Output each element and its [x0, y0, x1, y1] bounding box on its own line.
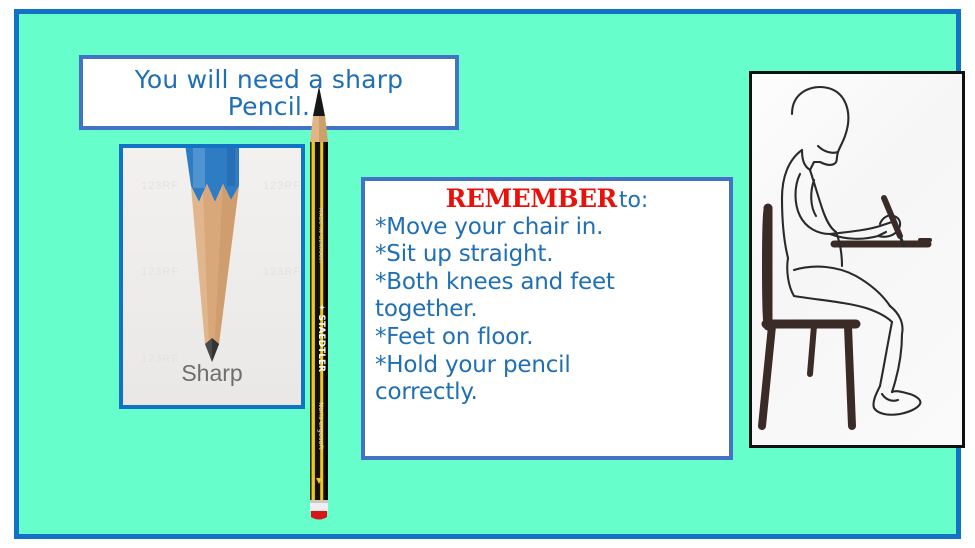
title-text-box: You will need a sharp Pencil.: [79, 55, 459, 130]
pencil-origin-text: MADE IN GERMANY: [317, 208, 323, 264]
posture-image-card: [749, 71, 965, 448]
seated-child-drawing: [752, 74, 962, 445]
slide-border-frame: You will need a sharp Pencil. 123RF 123R…: [14, 9, 961, 539]
staedtler-pencil-graphic: MADE IN GERMANY ✦ STAEDTLER Noris ergoso…: [306, 86, 332, 521]
pencil-model-text: Noris ergosoft: [317, 402, 325, 450]
reminder-item: correctly.: [375, 379, 719, 407]
reminder-item: *Both knees and feet: [375, 269, 719, 297]
sharp-label: Sharp: [123, 360, 301, 387]
sharp-pencil-image-card: 123RF 123RF 123RF 123RF 123RF: [119, 144, 305, 409]
title-line-1: You will need a sharp: [135, 65, 404, 94]
title-line-2: Pencil.: [228, 92, 310, 121]
reminder-heading: REMEMBERto:: [375, 185, 719, 214]
reminder-item: *Feet on floor.: [375, 324, 719, 352]
reminder-item: *Sit up straight.: [375, 241, 719, 269]
remember-emphasis: REMEMBER: [446, 184, 617, 213]
reminder-item: together.: [375, 296, 719, 324]
reminder-item: *Hold your pencil: [375, 352, 719, 380]
posture-line-drawing: [752, 74, 962, 445]
remember-to-label: to:: [619, 188, 649, 213]
reminder-item: *Move your chair in.: [375, 214, 719, 242]
sharp-pencil-photo: 123RF 123RF 123RF 123RF 123RF: [123, 148, 301, 405]
slide-canvas: You will need a sharp Pencil. 123RF 123R…: [0, 0, 975, 548]
pencil-illustration: MADE IN GERMANY ✦ STAEDTLER Noris ergoso…: [306, 86, 332, 521]
reminder-text-box: REMEMBERto: *Move your chair in. *Sit up…: [361, 177, 733, 460]
page-title: You will need a sharp Pencil.: [129, 66, 410, 120]
pencil-brand-text: ✦ STAEDTLER: [316, 304, 326, 372]
